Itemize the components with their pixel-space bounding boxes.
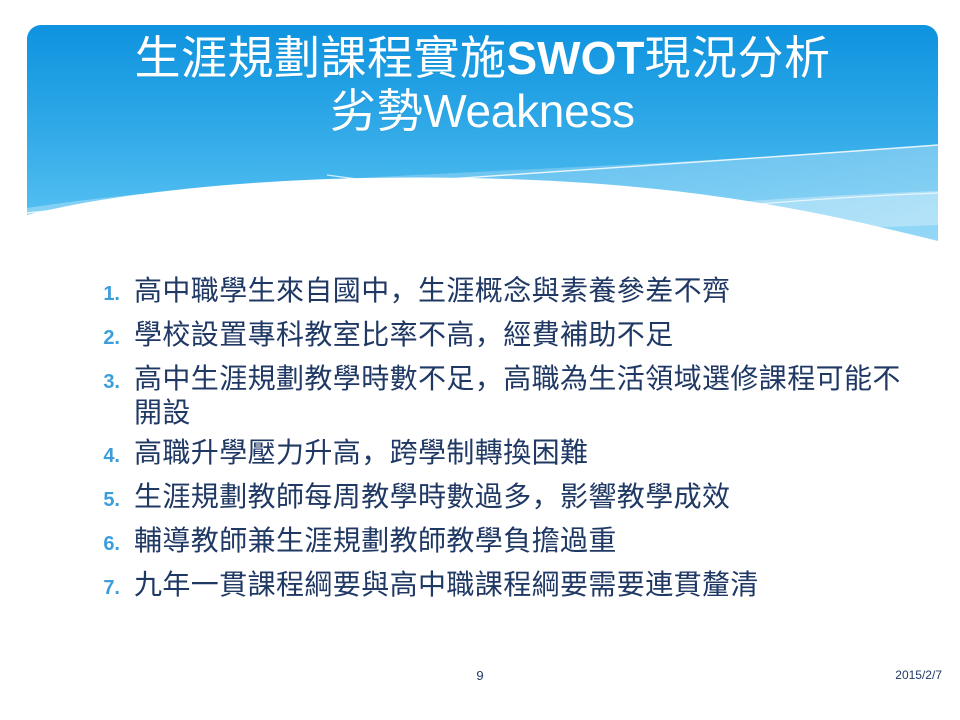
list-item-text: 學校設置專科教室比率不高，經費補助不足: [134, 319, 908, 353]
list-item-text: 高中生涯規劃教學時數不足，高職為生活領域選修課程可能不開設: [134, 363, 908, 431]
list-item: 1. 高中職學生來自國中，生涯概念與素養參差不齊: [88, 275, 908, 313]
list-item-number: 2.: [88, 319, 134, 357]
list-item-number: 4.: [88, 437, 134, 475]
list-item-number: 5.: [88, 481, 134, 519]
presentation-slide: 生涯規劃課程實施SWOT現況分析 劣勢Weakness 1. 高中職學生來自國中…: [0, 0, 960, 720]
list-item-number: 6.: [88, 525, 134, 563]
list-item-text: 生涯規劃教師每周教學時數過多，影響教學成效: [134, 481, 908, 515]
slide-date: 2015/2/7: [895, 668, 942, 682]
list-item: 3. 高中生涯規劃教學時數不足，高職為生活領域選修課程可能不開設: [88, 363, 908, 431]
list-item: 6. 輔導教師兼生涯規劃教師教學負擔過重: [88, 525, 908, 563]
list-item-text: 高職升學壓力升高，跨學制轉換困難: [134, 437, 908, 471]
list-item: 5. 生涯規劃教師每周教學時數過多，影響教學成效: [88, 481, 908, 519]
title-banner: [27, 25, 938, 257]
list-item: 2. 學校設置專科教室比率不高，經費補助不足: [88, 319, 908, 357]
list-item: 7. 九年一貫課程綱要與高中職課程綱要需要連貫釐清: [88, 569, 908, 607]
list-item-text: 九年一貫課程綱要與高中職課程綱要需要連貫釐清: [134, 569, 908, 603]
list-item-text: 高中職學生來自國中，生涯概念與素養參差不齊: [134, 275, 908, 309]
bullet-list: 1. 高中職學生來自國中，生涯概念與素養參差不齊 2. 學校設置專科教室比率不高…: [88, 275, 908, 613]
list-item: 4. 高職升學壓力升高，跨學制轉換困難: [88, 437, 908, 475]
page-number: 9: [0, 668, 960, 683]
banner-wave-decoration: [27, 25, 938, 257]
list-item-number: 7.: [88, 569, 134, 607]
list-item-number: 1.: [88, 275, 134, 313]
list-item-number: 3.: [88, 363, 134, 401]
list-item-text: 輔導教師兼生涯規劃教師教學負擔過重: [134, 525, 908, 559]
